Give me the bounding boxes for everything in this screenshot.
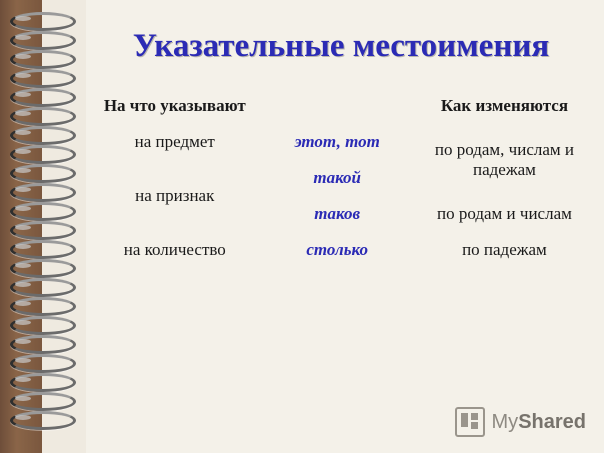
watermark: MyShared — [455, 407, 586, 437]
header-cell-pronouns — [256, 88, 419, 124]
binder-ring — [10, 221, 76, 240]
binder-ring — [10, 316, 76, 335]
watermark-text-light: My — [492, 411, 519, 433]
cell-pronouns-takov: таков — [256, 196, 419, 232]
binder-ring — [10, 278, 76, 297]
binder-ring — [10, 164, 76, 183]
binder-ring — [10, 107, 76, 126]
cell-what-object: на предмет — [94, 124, 256, 160]
binder-ring — [10, 145, 76, 164]
binder-ring — [10, 88, 76, 107]
binder-ring — [10, 50, 76, 69]
page-title: Указательные местоимения — [86, 28, 596, 65]
cell-what-quantity: на количество — [94, 232, 256, 268]
table-header-row: На что указывают Как изменяются — [94, 88, 590, 124]
binder-ring — [10, 69, 76, 88]
binder-ring — [10, 411, 76, 430]
table-row: на количество столько по падежам — [94, 232, 590, 268]
cell-pronouns-stolko: столько — [256, 232, 419, 268]
binder-ring — [10, 259, 76, 278]
binder-ring — [10, 31, 76, 50]
cell-pronouns-object: этот, тот — [256, 124, 419, 160]
table-row: на предмет этот, тот по родам, числам и … — [94, 124, 590, 160]
cell-what-feature: на признак — [94, 160, 256, 232]
spiral-binder — [0, 0, 86, 453]
watermark-text: MyShared — [492, 411, 586, 434]
slide-page: Указательные местоимения На что указываю… — [86, 0, 604, 453]
binder-ring — [10, 126, 76, 145]
cell-change-gender-number-case: по родам, числам и падежам — [419, 124, 590, 196]
cell-change-gender-number: по родам и числам — [419, 196, 590, 232]
watermark-text-bold: Shared — [518, 411, 586, 433]
binder-ring — [10, 202, 76, 221]
binder-ring — [10, 354, 76, 373]
binder-ring — [10, 373, 76, 392]
binder-ring — [10, 240, 76, 259]
header-cell-what: На что указывают — [94, 88, 256, 124]
binder-ring — [10, 335, 76, 354]
slide: Указательные местоимения На что указываю… — [0, 0, 604, 453]
myshared-logo-icon — [455, 407, 485, 437]
binder-ring — [10, 392, 76, 411]
cell-pronouns-takoy: такой — [256, 160, 419, 196]
binder-ring — [10, 12, 76, 31]
binder-ring — [10, 297, 76, 316]
header-cell-change: Как изменяются — [419, 88, 590, 124]
pronoun-table: На что указывают Как изменяются на предм… — [94, 88, 590, 268]
cell-change-case: по падежам — [419, 232, 590, 268]
binder-ring — [10, 183, 76, 202]
